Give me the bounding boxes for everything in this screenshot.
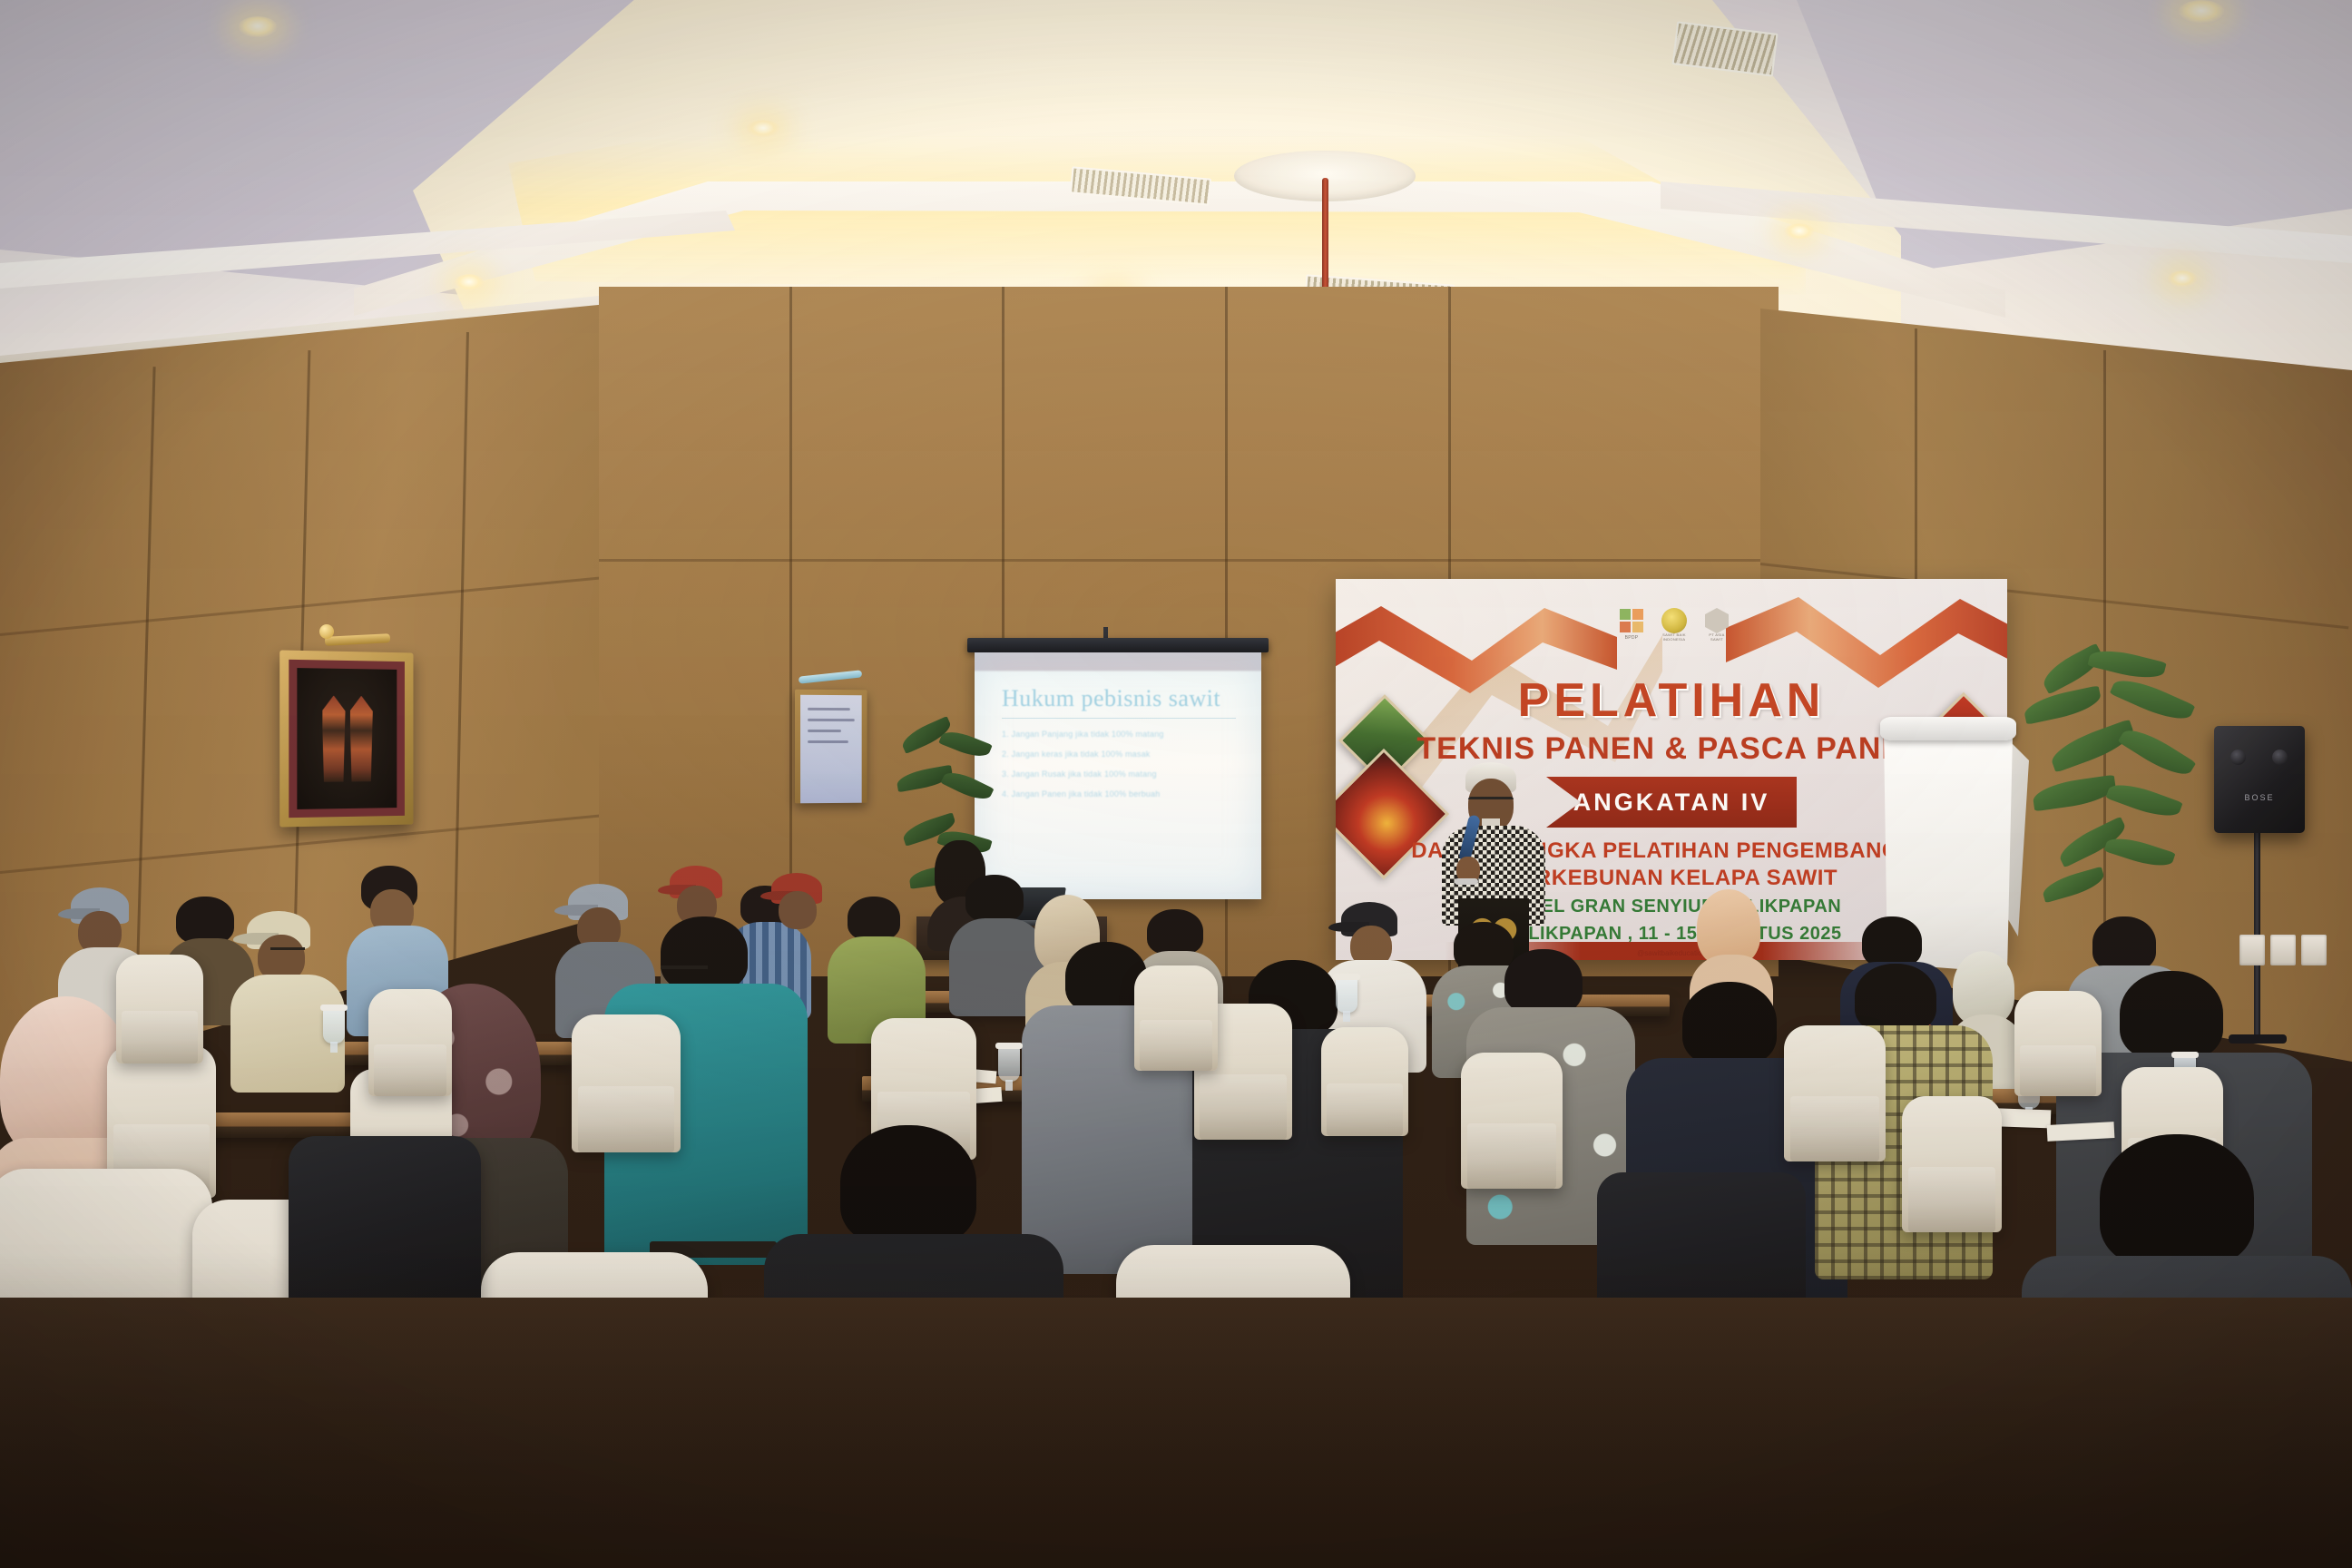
person-hair	[1147, 909, 1203, 955]
backpack-on-chair	[289, 1136, 481, 1314]
banner-logo-row: BPDP SAWIT BAIK INDONESIA PT ASIA SAWIT	[1588, 597, 1760, 644]
chair[interactable]	[1321, 1027, 1408, 1136]
flipchart-paper-roll	[1880, 717, 2016, 740]
dayak-carving-motif	[322, 695, 346, 782]
person-hair	[840, 1125, 976, 1245]
logo-caption: BPDP	[1620, 635, 1643, 641]
speaker-driver-icon	[2230, 750, 2246, 765]
downlight-8	[2178, 0, 2225, 24]
speaker-stand-foot	[2229, 1034, 2287, 1044]
floor	[0, 1298, 2352, 1568]
conference-room-photo: Hukum pebisnis sawit 1. Jangan Panjang j…	[0, 0, 2352, 1568]
person-hair	[1855, 964, 1936, 1033]
person-hair	[176, 897, 234, 944]
wall-power-outlets[interactable]	[2239, 935, 2327, 965]
panel-groove	[452, 332, 469, 1022]
water-glass	[998, 1047, 1020, 1082]
person-hair	[2120, 971, 2223, 1060]
glasses-icon	[270, 947, 305, 957]
panel-groove	[0, 573, 632, 636]
slide-title-rule	[1002, 718, 1236, 719]
partner-logo-icon	[1705, 608, 1729, 633]
picture-light-knob	[319, 624, 334, 639]
potted-plant-right	[2024, 653, 2205, 916]
screen-roller-bar	[967, 638, 1269, 652]
logo-caption: SAWIT BAIK INDONESIA	[1661, 632, 1687, 642]
person-hair	[661, 916, 748, 991]
panel-groove	[133, 367, 155, 1056]
artwork-mat	[289, 660, 405, 818]
chair[interactable]	[2014, 991, 2102, 1096]
water-glass	[1336, 978, 1357, 1013]
speaker-driver-icon	[2272, 750, 2288, 765]
bpdp-logo-icon	[1620, 609, 1643, 632]
slide-bullet: 1. Jangan Panjang jika tidak 100% matang	[1002, 730, 1236, 739]
water-glass	[323, 1009, 345, 1044]
person-hair	[2100, 1134, 2254, 1267]
banner-batch-label: ANGKATAN IV	[1573, 789, 1770, 817]
chair[interactable]	[1461, 1053, 1563, 1189]
notice-text-line	[808, 708, 850, 710]
chair[interactable]	[368, 989, 452, 1096]
slide-bullet: 2. Jangan keras jika tidak 100% masak	[1002, 750, 1236, 759]
notice-text-line	[808, 740, 848, 743]
dayak-carving-motif	[349, 696, 372, 782]
artwork-canvas	[297, 668, 397, 809]
power-outlet[interactable]	[2301, 935, 2327, 965]
presenter-wristband	[1455, 878, 1478, 885]
pa-speaker: BOSE	[2214, 726, 2305, 833]
logo-caption: PT ASIA SAWIT	[1705, 632, 1729, 642]
downlight-3	[746, 120, 780, 138]
slide-title: Hukum pebisnis sawit	[1002, 685, 1236, 712]
framed-artwork	[279, 650, 413, 827]
panel-groove	[599, 559, 1779, 562]
wall-notice-frame	[795, 690, 867, 804]
wall-notice-sheet	[800, 695, 862, 804]
notice-text-line	[808, 719, 855, 721]
speaker-brand-label: BOSE	[2214, 793, 2305, 802]
person-head	[779, 891, 817, 929]
chair[interactable]	[1784, 1025, 1886, 1161]
notice-text-line	[808, 730, 841, 732]
person-hair	[1862, 916, 1922, 967]
chair[interactable]	[1134, 965, 1218, 1071]
banner-batch-badge: ANGKATAN IV	[1546, 777, 1797, 828]
downlight-1	[238, 16, 278, 38]
chair[interactable]	[572, 1014, 681, 1152]
screen-surface: Hukum pebisnis sawit 1. Jangan Panjang j…	[975, 652, 1261, 899]
person-hair	[1682, 982, 1777, 1065]
power-outlet[interactable]	[2239, 935, 2265, 965]
downlight-9	[2167, 270, 2198, 288]
person-hair	[1454, 922, 1514, 971]
sawit-baik-logo-icon	[1661, 608, 1687, 633]
slide-content: Hukum pebisnis sawit 1. Jangan Panjang j…	[975, 652, 1261, 799]
downlight-6	[1784, 223, 1815, 240]
person-hair	[965, 875, 1024, 922]
slide-bullet: 4. Jangan Panen jika tidak 100% berbuah	[1002, 789, 1236, 799]
slide-bullet: 3. Jangan Rusak jika tidak 100% matang	[1002, 769, 1236, 779]
downlight-2	[454, 274, 485, 291]
power-outlet[interactable]	[2270, 935, 2296, 965]
chair[interactable]	[116, 955, 203, 1063]
chair[interactable]	[1902, 1096, 2002, 1232]
person-hair	[848, 897, 900, 940]
projection-screen[interactable]: Hukum pebisnis sawit 1. Jangan Panjang j…	[967, 638, 1269, 910]
glasses-icon	[661, 965, 708, 978]
person-hair	[2092, 916, 2156, 971]
person-hair	[1504, 949, 1583, 1014]
glasses-icon	[1468, 797, 1514, 808]
